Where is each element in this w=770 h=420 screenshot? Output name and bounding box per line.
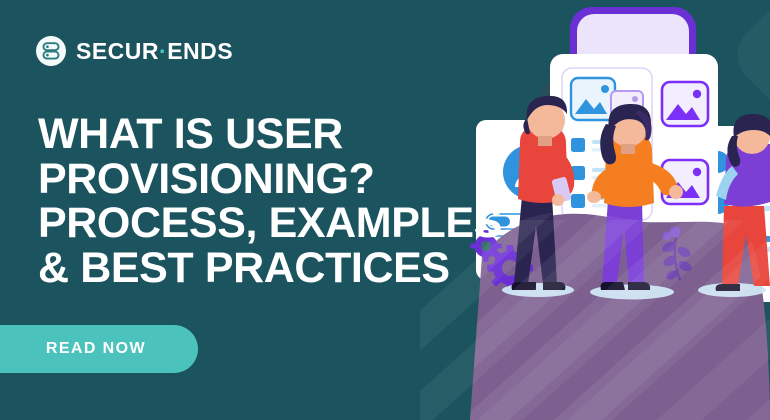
brand-name-separator: ·	[159, 38, 167, 64]
securends-logo-icon	[36, 36, 66, 66]
image-placeholder-blue	[571, 78, 615, 120]
brand-name-part1: SECUR	[76, 38, 159, 64]
brand-name: SECUR·ENDS	[76, 38, 233, 65]
headline-line-3: PROCESS, EXAMPLES	[38, 201, 558, 246]
brand-name-part2: ENDS	[167, 38, 233, 64]
read-now-button-label: READ NOW	[46, 340, 146, 358]
headline-line-1: WHAT IS USER	[38, 112, 558, 157]
read-now-button[interactable]: READ NOW	[0, 325, 198, 373]
headline-line-2: PROVISIONING?	[38, 157, 558, 202]
brand-logo[interactable]: SECUR·ENDS	[36, 36, 233, 66]
image-placeholder-purple-1	[662, 82, 708, 126]
headline-line-4: & BEST PRACTICES	[38, 246, 558, 291]
page-title: WHAT IS USER PROVISIONING? PROCESS, EXAM…	[38, 112, 558, 291]
blog-promo-banner: SECUR·ENDS WHAT IS USER PROVISIONING? PR…	[0, 0, 770, 420]
